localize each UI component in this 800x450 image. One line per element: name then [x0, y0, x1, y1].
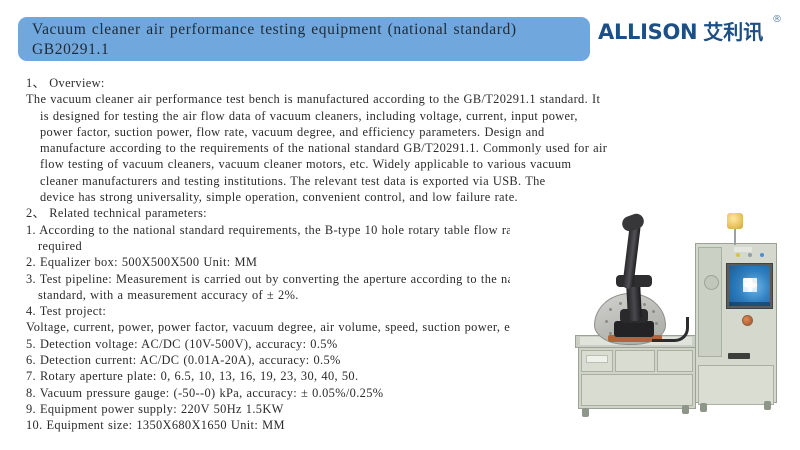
brand-logo: ALLISON 艾利讯 ® — [598, 14, 790, 54]
bench-foot — [682, 405, 689, 414]
cabinet-side-panel — [698, 247, 722, 357]
plate-hole — [652, 310, 655, 313]
arm-cable — [652, 317, 689, 342]
cabinet-lower-door — [698, 365, 774, 405]
cabinet-vent-icon — [704, 275, 719, 290]
title-banner: Vacuum cleaner air performance testing e… — [18, 17, 590, 61]
plate-hole — [609, 308, 612, 311]
plate-hole — [605, 320, 608, 323]
bench-foot — [582, 408, 589, 417]
text-line: cleaner manufacturers and testing instit… — [26, 173, 648, 189]
windows-logo-icon — [743, 278, 757, 292]
arm-base — [614, 321, 654, 337]
signal-beacon-light — [727, 213, 743, 229]
page-header: Vacuum cleaner air performance testing e… — [0, 0, 800, 68]
bench-panel — [581, 374, 693, 406]
text-line: power factor, suction power, flow rate, … — [26, 124, 648, 140]
registered-trademark-icon: ® — [772, 14, 782, 25]
logo-lockup: ALLISON 艾利讯 — [598, 22, 763, 43]
cabinet-foot — [764, 401, 771, 410]
emergency-stop-button[interactable] — [742, 315, 753, 326]
text-line: manufacture according to the requirement… — [26, 140, 648, 156]
monitor-screen[interactable] — [729, 266, 770, 306]
logo-chinese-text: 艾利讯 — [703, 22, 763, 42]
bench-label-sticker — [586, 355, 608, 363]
logo-latin-text: ALLISON — [598, 22, 697, 43]
slide-page: Vacuum cleaner air performance testing e… — [0, 0, 800, 450]
text-line: device has strong universality, simple o… — [26, 189, 648, 205]
plate-hole — [643, 303, 646, 306]
text-line: flow testing of vacuum cleaners, vacuum … — [26, 156, 648, 172]
cabinet-indicator-light[interactable] — [748, 253, 752, 257]
beacon-pole — [734, 227, 736, 245]
bench-panel — [657, 350, 693, 372]
cabinet-indicator-light[interactable] — [760, 253, 764, 257]
text-line: is designed for testing the air flow dat… — [26, 108, 648, 124]
cabinet-foot — [700, 403, 707, 412]
cabinet-door-handle[interactable] — [728, 353, 750, 359]
text-line: 1、 Overview: — [26, 75, 648, 91]
cabinet-indicator-light[interactable] — [736, 253, 740, 257]
equipment-photo — [510, 205, 800, 440]
text-line: The vacuum cleaner air performance test … — [26, 91, 648, 107]
plate-hole — [619, 302, 622, 305]
page-title: Vacuum cleaner air performance testing e… — [32, 20, 578, 60]
cabinet-label-sticker — [734, 247, 752, 252]
bench-panel — [615, 350, 655, 372]
screen-taskbar — [729, 302, 770, 306]
